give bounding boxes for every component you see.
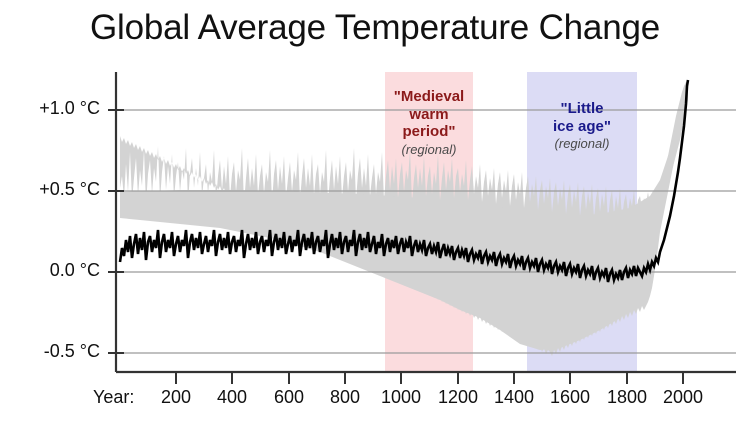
x-tick-label-1000: 1000	[371, 387, 431, 408]
y-tick-label-3: 0.0 °C	[8, 260, 100, 281]
annotation-little-ice-age: "Little ice age" (regional)	[527, 100, 637, 151]
annotation-medieval-line1: "Medieval	[394, 88, 464, 105]
x-tick-label-400: 400	[202, 387, 262, 408]
x-tick-label-200: 200	[146, 387, 206, 408]
annotation-lia-sub: (regional)	[527, 136, 637, 151]
x-axis-title: Year:	[93, 387, 134, 408]
chart-plot-area	[0, 0, 750, 422]
annotation-medieval-line2: warm	[409, 106, 448, 123]
y-tick-label-2: +0.5 °C	[8, 179, 100, 200]
x-tick-label-1200: 1200	[428, 387, 488, 408]
x-tick-marks	[176, 372, 683, 384]
x-tick-label-800: 800	[315, 387, 375, 408]
x-tick-label-1600: 1600	[540, 387, 600, 408]
x-tick-label-1400: 1400	[484, 387, 544, 408]
annotation-lia-line2: ice age"	[553, 118, 611, 135]
y-tick-label-1: +1.0 °C	[8, 98, 100, 119]
x-tick-label-1800: 1800	[597, 387, 657, 408]
x-tick-label-2000: 2000	[653, 387, 713, 408]
annotation-medieval-warm-period: "Medieval warm period" (regional)	[379, 88, 479, 157]
chart-container: Global Average Temperature Change	[0, 0, 750, 422]
annotation-medieval-line3: period"	[403, 123, 456, 140]
x-tick-label-600: 600	[259, 387, 319, 408]
annotation-medieval-sub: (regional)	[379, 142, 479, 157]
y-tick-label-4: -0.5 °C	[8, 341, 100, 362]
annotation-lia-line1: "Little	[561, 100, 604, 117]
